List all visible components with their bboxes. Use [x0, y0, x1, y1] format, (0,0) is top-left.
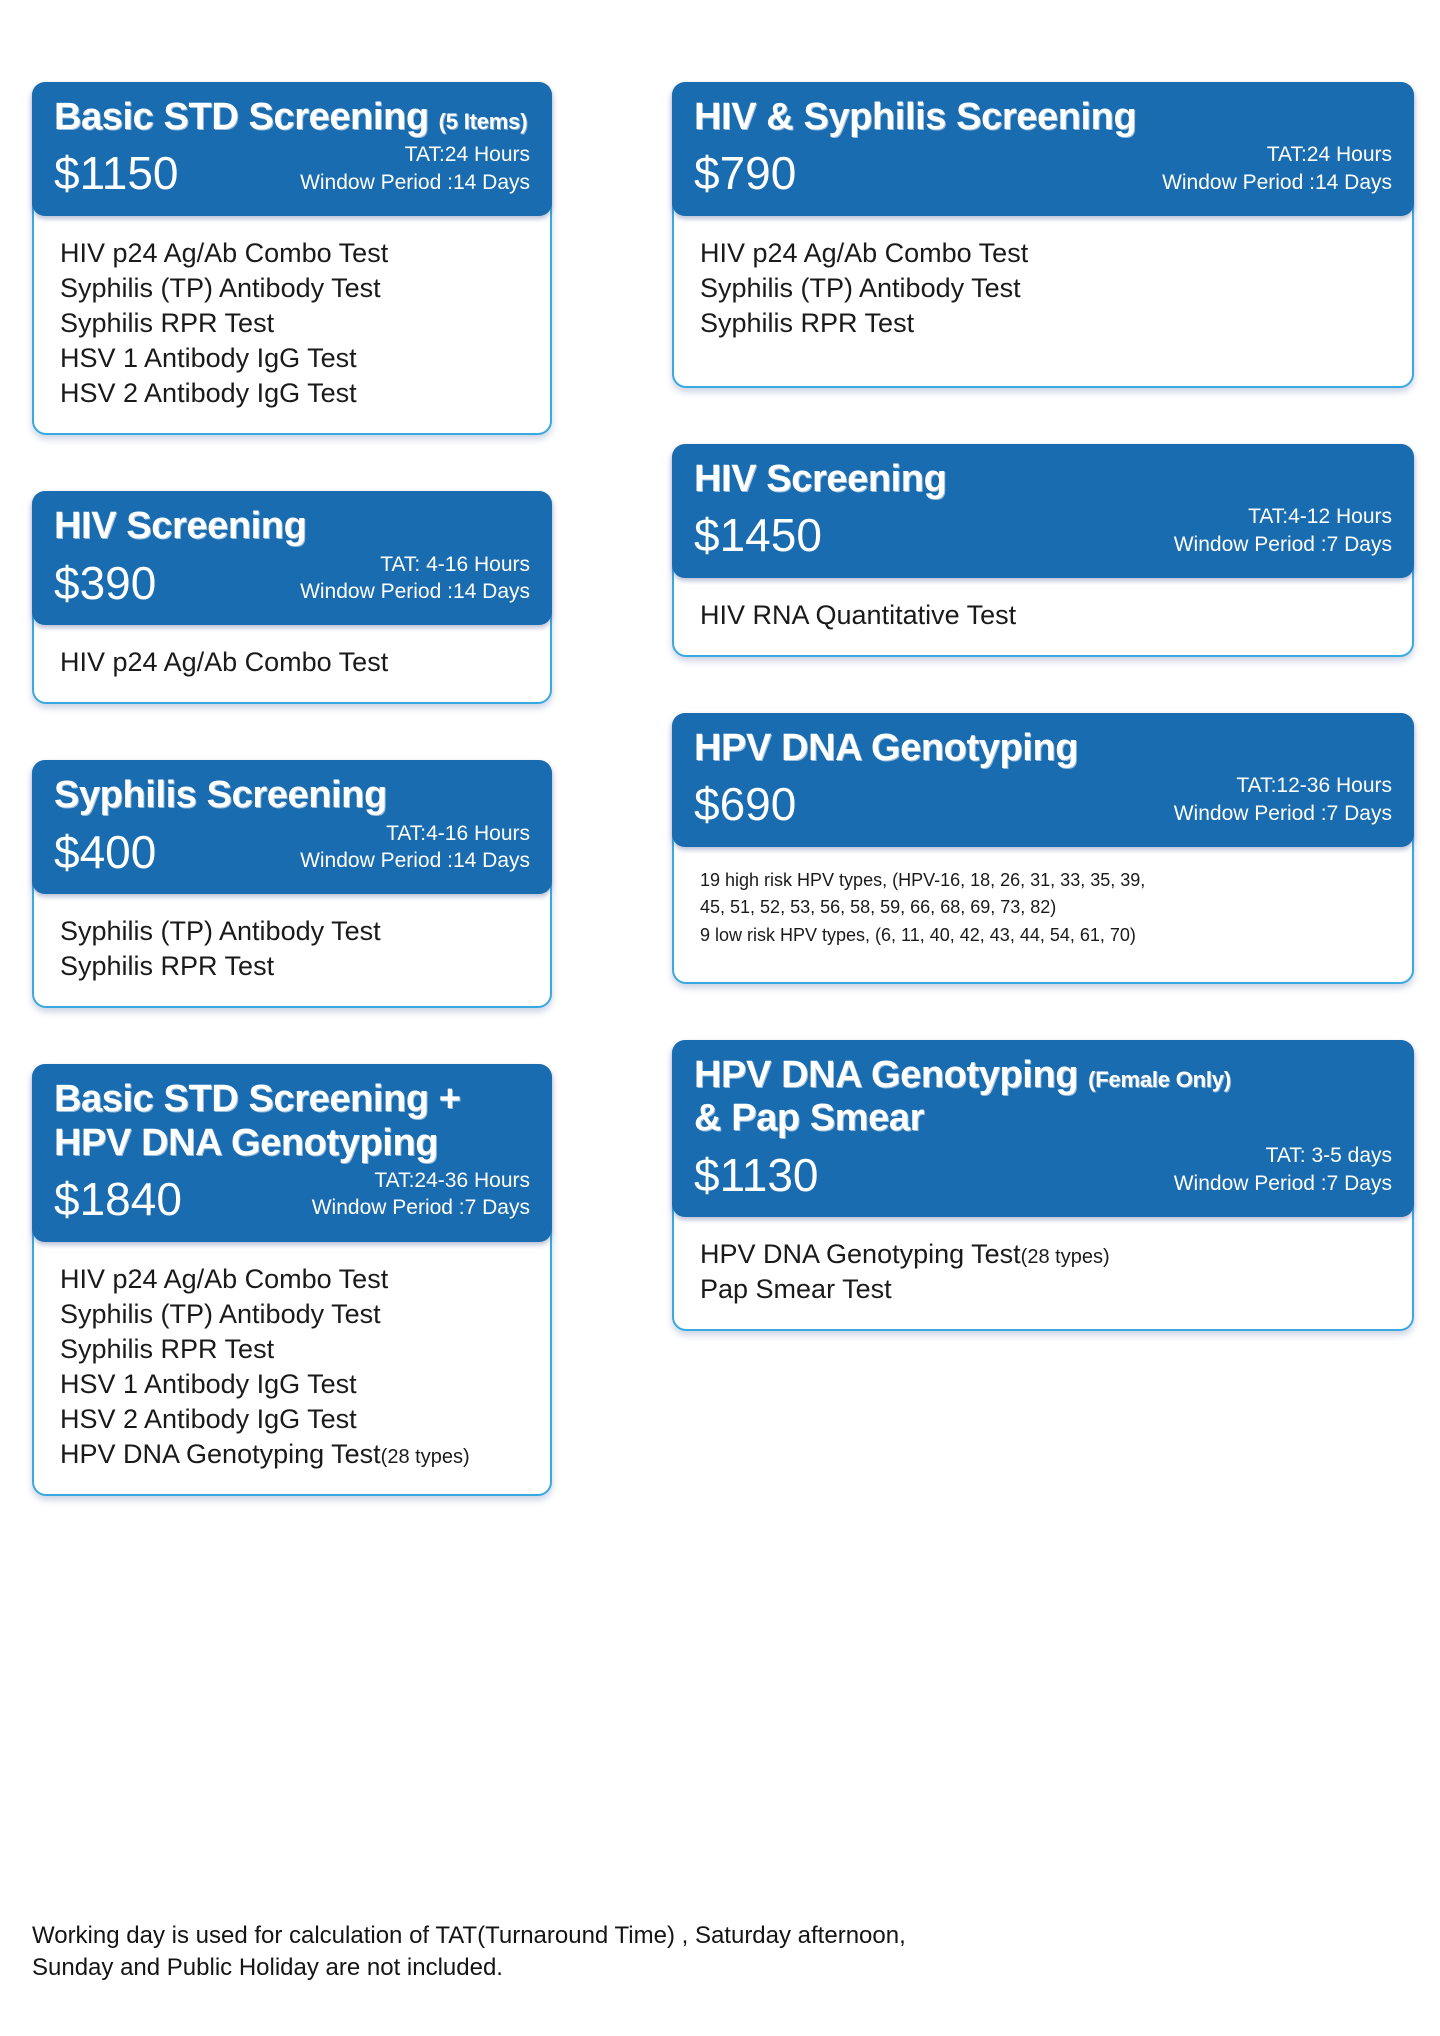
package-price: $400 [54, 827, 156, 879]
package-card-grid: Basic STD Screening (5 Items) $1150 TAT:… [32, 82, 1414, 1552]
tat-text: TAT:12-36 Hours [1236, 774, 1392, 797]
card-body: HIV RNA Quantitative Test [674, 578, 1412, 655]
card-body: 19 high risk HPV types, (HPV-16, 18, 26,… [674, 847, 1412, 982]
package-card-basic-std-plus-hpv[interactable]: Basic STD Screening + HPV DNA Genotyping… [32, 1064, 552, 1496]
price-row: $690 TAT:12-36 Hours Window Period :7 Da… [694, 772, 1392, 831]
package-title-suffix: (Female Only) [1088, 1069, 1231, 1091]
list-item: HSV 2 Antibody IgG Test [60, 376, 524, 411]
card-header: HPV DNA Genotyping & Pap Smear (Female O… [672, 1040, 1414, 1217]
list-item: HSV 1 Antibody IgG Test [60, 1367, 524, 1402]
price-row: $390 TAT: 4-16 Hours Window Period :14 D… [54, 551, 530, 610]
package-title: HIV Screening [54, 505, 306, 548]
price-row: $1150 TAT:24 Hours Window Period :14 Day… [54, 141, 530, 200]
price-list-sheet: Basic STD Screening (5 Items) $1150 TAT:… [0, 0, 1440, 2036]
price-row: $1130 TAT: 3-5 days Window Period :7 Day… [694, 1142, 1392, 1201]
window-period-text: Window Period :14 Days [1162, 171, 1392, 194]
card-header: HPV DNA Genotyping $690 TAT:12-36 Hours … [672, 713, 1414, 847]
card-body: HIV p24 Ag/Ab Combo Test Syphilis (TP) A… [674, 216, 1412, 386]
list-item-qualifier: (28 types) [381, 1446, 470, 1468]
hpv-types-line: 45, 51, 52, 53, 56, 58, 59, 66, 68, 69, … [700, 894, 1386, 921]
list-item: Syphilis RPR Test [60, 306, 524, 341]
tat-text: TAT:4-16 Hours [386, 822, 530, 845]
card-body: HIV p24 Ag/Ab Combo Test Syphilis (TP) A… [34, 216, 550, 433]
list-item: HIV RNA Quantitative Test [700, 598, 1386, 633]
window-period-text: Window Period :7 Days [312, 1196, 530, 1219]
package-card-hpv-genotyping-pap-smear[interactable]: HPV DNA Genotyping & Pap Smear (Female O… [672, 1040, 1414, 1331]
list-item: HIV p24 Ag/Ab Combo Test [60, 236, 524, 271]
right-column: HIV & Syphilis Screening $790 TAT:24 Hou… [672, 82, 1414, 1387]
package-card-hiv-screening-1450[interactable]: HIV Screening $1450 TAT:4-12 Hours Windo… [672, 444, 1414, 657]
tat-text: TAT:24 Hours [1267, 143, 1392, 166]
list-item: Syphilis (TP) Antibody Test [60, 914, 524, 949]
package-price: $390 [54, 558, 156, 610]
window-period-text: Window Period :7 Days [1174, 1172, 1392, 1195]
hpv-types-line: 19 high risk HPV types, (HPV-16, 18, 26,… [700, 867, 1386, 894]
package-card-hiv-syphilis-screening[interactable]: HIV & Syphilis Screening $790 TAT:24 Hou… [672, 82, 1414, 388]
tat-text: TAT:24-36 Hours [374, 1169, 530, 1192]
card-header: HIV Screening $1450 TAT:4-12 Hours Windo… [672, 444, 1414, 578]
list-item-label: HPV DNA Genotyping Test [60, 1439, 381, 1469]
package-title: HIV Screening [694, 458, 946, 501]
package-price: $690 [694, 779, 796, 831]
title-row: HPV DNA Genotyping [694, 727, 1392, 770]
list-item: HSV 2 Antibody IgG Test [60, 1402, 524, 1437]
turnaround-meta: TAT:12-36 Hours Window Period :7 Days [1174, 772, 1392, 831]
package-title: HPV DNA Genotyping [694, 727, 1078, 770]
list-item: HSV 1 Antibody IgG Test [60, 341, 524, 376]
package-card-hpv-dna-genotyping[interactable]: HPV DNA Genotyping $690 TAT:12-36 Hours … [672, 713, 1414, 984]
title-row: HIV Screening [694, 458, 1392, 501]
left-column: Basic STD Screening (5 Items) $1150 TAT:… [32, 82, 552, 1552]
price-row: $400 TAT:4-16 Hours Window Period :14 Da… [54, 820, 530, 879]
package-card-syphilis-screening[interactable]: Syphilis Screening $400 TAT:4-16 Hours W… [32, 760, 552, 1008]
hpv-types-line: 9 low risk HPV types, (6, 11, 40, 42, 43… [700, 922, 1386, 949]
turnaround-meta: TAT:4-12 Hours Window Period :7 Days [1174, 503, 1392, 562]
window-period-text: Window Period :14 Days [300, 171, 530, 194]
window-period-text: Window Period :7 Days [1174, 533, 1392, 556]
package-title-suffix: (5 Items) [439, 111, 528, 133]
turnaround-meta: TAT:4-16 Hours Window Period :14 Days [300, 820, 530, 879]
title-row: Syphilis Screening [54, 774, 530, 817]
list-item-qualifier: (28 types) [1021, 1246, 1110, 1268]
list-item: Syphilis (TP) Antibody Test [700, 271, 1386, 306]
list-item: Syphilis RPR Test [60, 1332, 524, 1367]
package-card-basic-std-screening[interactable]: Basic STD Screening (5 Items) $1150 TAT:… [32, 82, 552, 435]
window-period-text: Window Period :14 Days [300, 580, 530, 603]
title-row: Basic STD Screening (5 Items) [54, 96, 530, 139]
card-body: HPV DNA Genotyping Test(28 types) Pap Sm… [674, 1217, 1412, 1329]
package-title: HPV DNA Genotyping & Pap Smear [694, 1054, 1078, 1141]
list-item: Syphilis (TP) Antibody Test [60, 271, 524, 306]
card-header: HIV & Syphilis Screening $790 TAT:24 Hou… [672, 82, 1414, 216]
title-row: HIV & Syphilis Screening [694, 96, 1392, 139]
list-item: HPV DNA Genotyping Test(28 types) [700, 1237, 1386, 1272]
list-item: Syphilis RPR Test [700, 306, 1386, 341]
card-header: Syphilis Screening $400 TAT:4-16 Hours W… [32, 760, 552, 894]
price-row: $1840 TAT:24-36 Hours Window Period :7 D… [54, 1167, 530, 1226]
list-item: Syphilis (TP) Antibody Test [60, 1297, 524, 1332]
list-item: HPV DNA Genotyping Test(28 types) [60, 1437, 524, 1472]
turnaround-meta: TAT:24 Hours Window Period :14 Days [1162, 141, 1392, 200]
price-row: $1450 TAT:4-12 Hours Window Period :7 Da… [694, 503, 1392, 562]
list-item: HIV p24 Ag/Ab Combo Test [700, 236, 1386, 271]
turnaround-meta: TAT: 3-5 days Window Period :7 Days [1174, 1142, 1392, 1201]
footer-disclaimer: Working day is used for calculation of T… [32, 1920, 1312, 1984]
window-period-text: Window Period :7 Days [1174, 802, 1392, 825]
card-header: Basic STD Screening + HPV DNA Genotyping… [32, 1064, 552, 1241]
tat-text: TAT:4-12 Hours [1248, 505, 1392, 528]
package-price: $790 [694, 148, 796, 200]
list-item: HIV p24 Ag/Ab Combo Test [60, 645, 524, 680]
package-card-hiv-screening-390[interactable]: HIV Screening $390 TAT: 4-16 Hours Windo… [32, 491, 552, 704]
list-item: HIV p24 Ag/Ab Combo Test [60, 1262, 524, 1297]
package-price: $1840 [54, 1174, 182, 1226]
tat-text: TAT: 4-16 Hours [380, 553, 530, 576]
list-item-label: HPV DNA Genotyping Test [700, 1239, 1021, 1269]
list-item: Syphilis RPR Test [60, 949, 524, 984]
card-header: HIV Screening $390 TAT: 4-16 Hours Windo… [32, 491, 552, 625]
window-period-text: Window Period :14 Days [300, 849, 530, 872]
card-body: Syphilis (TP) Antibody Test Syphilis RPR… [34, 894, 550, 1006]
card-header: Basic STD Screening (5 Items) $1150 TAT:… [32, 82, 552, 216]
package-price: $1450 [694, 510, 822, 562]
price-row: $790 TAT:24 Hours Window Period :14 Days [694, 141, 1392, 200]
turnaround-meta: TAT:24-36 Hours Window Period :7 Days [312, 1167, 530, 1226]
tat-text: TAT:24 Hours [405, 143, 530, 166]
turnaround-meta: TAT: 4-16 Hours Window Period :14 Days [300, 551, 530, 610]
title-row: HIV Screening [54, 505, 530, 548]
list-item: Pap Smear Test [700, 1272, 1386, 1307]
package-price: $1150 [54, 148, 179, 200]
card-body: HIV p24 Ag/Ab Combo Test Syphilis (TP) A… [34, 1242, 550, 1495]
card-body: HIV p24 Ag/Ab Combo Test [34, 625, 550, 702]
package-title: Basic STD Screening + HPV DNA Genotyping [54, 1078, 461, 1165]
title-row: Basic STD Screening + HPV DNA Genotyping [54, 1078, 530, 1165]
turnaround-meta: TAT:24 Hours Window Period :14 Days [300, 141, 530, 200]
package-title: Syphilis Screening [54, 774, 387, 817]
package-title: Basic STD Screening [54, 96, 429, 139]
package-title: HIV & Syphilis Screening [694, 96, 1136, 139]
tat-text: TAT: 3-5 days [1266, 1144, 1392, 1167]
package-price: $1130 [694, 1150, 819, 1202]
title-row: HPV DNA Genotyping & Pap Smear (Female O… [694, 1054, 1392, 1141]
